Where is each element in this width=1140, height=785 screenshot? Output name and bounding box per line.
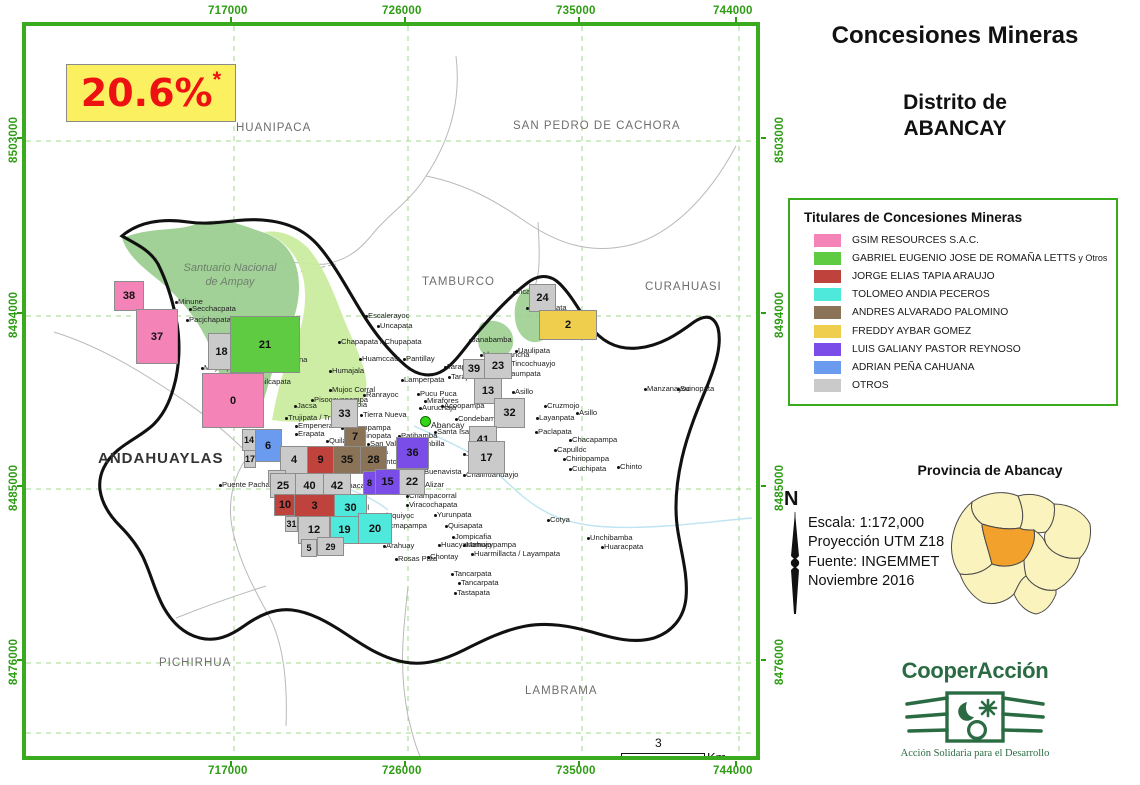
- graticule-tick: [404, 761, 406, 766]
- page-title: Concesiones Mineras: [790, 22, 1120, 50]
- settlement-label: Capulloc: [557, 445, 587, 454]
- legend-label: ANDRES ALVARADO PALOMINO: [852, 307, 1008, 318]
- graticule-tick: [761, 137, 766, 139]
- concession-block[interactable]: 22: [399, 469, 425, 495]
- legend-item[interactable]: JORGE ELIAS TAPIA ARAUJO: [800, 267, 1106, 285]
- legend-swatch: [814, 252, 841, 265]
- graticule-tick: [578, 17, 580, 22]
- graticule-tick: [735, 761, 737, 766]
- legend-swatch: [814, 379, 841, 392]
- graticule-tick: [578, 761, 580, 766]
- settlement-label: Uncapata: [380, 321, 413, 330]
- legend-item[interactable]: ANDRES ALVARADO PALOMINO: [800, 304, 1106, 322]
- graticule-tick: [17, 659, 22, 661]
- legend-swatch: [814, 343, 841, 356]
- info-line-0: Escala: 1:172,000: [808, 514, 944, 533]
- settlement-label: Chapapata / Chupapata: [341, 337, 422, 346]
- settlement-label: Ranrayoc: [366, 390, 399, 399]
- settlement-label: Alizar: [425, 480, 444, 489]
- legend-rows: GSIM RESOURCES S.A.C.GABRIEL EUGENIO JOS…: [800, 231, 1106, 395]
- settlement-label: Viracochapata: [409, 500, 457, 509]
- graticule-x-label: 744000: [713, 5, 753, 17]
- info-line-3: Noviembre 2016: [808, 572, 944, 591]
- settlement-label: Cuchipata: [572, 464, 606, 473]
- legend-swatch: [814, 234, 841, 247]
- concession-block[interactable]: 37: [136, 309, 178, 364]
- sanctuary-line2: de Ampay: [205, 276, 254, 288]
- graticule-x-label: 717000: [208, 5, 248, 17]
- concession-block[interactable]: 2: [539, 310, 597, 340]
- graticule-x-label: 744000: [713, 765, 753, 777]
- concession-block[interactable]: 6: [254, 429, 282, 462]
- concession-block[interactable]: 24: [529, 284, 556, 312]
- province-inset-map[interactable]: [920, 482, 1120, 622]
- settlement-label: Huarmillacta / Layampata: [474, 549, 560, 558]
- settlement-label: Unchibamba: [590, 533, 633, 542]
- graticule-tick: [230, 17, 232, 22]
- legend-label: OTROS: [852, 380, 889, 391]
- legend-swatch: [814, 288, 841, 301]
- page-subtitle: Distrito de ABANCAY: [790, 90, 1120, 143]
- info-line-2: Fuente: INGEMMET: [808, 553, 944, 572]
- concession-block[interactable]: 31: [285, 516, 298, 532]
- legend-label: JORGE ELIAS TAPIA ARAUJO: [852, 271, 995, 282]
- concession-block[interactable]: 35: [333, 446, 361, 474]
- settlement-label: Uaulipata: [518, 346, 550, 355]
- settlement-label: Huamccata: [362, 354, 400, 363]
- district-label: CURAHUASI: [645, 281, 722, 293]
- legend-swatch: [814, 325, 841, 338]
- settlement-label: Tincochuayjo: [511, 359, 555, 368]
- sanctuary-line1: Santuario Nacional: [184, 262, 277, 274]
- district-label: SAN PEDRO DE CACHORA: [513, 120, 681, 132]
- legend-title: Titulares de Concesiones Mineras: [804, 210, 1106, 225]
- info-line-1: Proyección UTM Z18: [808, 533, 944, 552]
- settlement-label: Asillo: [579, 408, 597, 417]
- sanctuary-label: Santuario Nacional de Ampay: [174, 262, 286, 290]
- graticule-x-label: 735000: [556, 765, 596, 777]
- district-label: ANDAHUAYLAS: [98, 450, 223, 467]
- settlement-label: Quisapata: [448, 521, 483, 530]
- settlement-label: Tierra Nueva: [363, 410, 407, 419]
- concession-block[interactable]: 9: [307, 446, 334, 474]
- graticule-y-label: 8485000: [8, 465, 20, 511]
- concession-block[interactable]: 5: [301, 539, 317, 557]
- graticule-y-label: 8503000: [774, 117, 786, 163]
- concession-block[interactable]: 10: [274, 494, 296, 516]
- graticule-y-label: 8494000: [774, 292, 786, 338]
- legend-label: TOLOMEO ANDIA PECEROS: [852, 289, 990, 300]
- legend-label: LUIS GALIANY PASTOR REYNOSO: [852, 344, 1021, 355]
- graticule-tick: [17, 312, 22, 314]
- settlement-label: Secchacpata: [192, 304, 236, 313]
- logo-wordmark: CooperAcción: [860, 658, 1090, 684]
- graticule-tick: [404, 17, 406, 22]
- concession-block[interactable]: 39: [463, 359, 485, 379]
- graticule-y-label: 8476000: [8, 639, 20, 685]
- legend-item[interactable]: TOLOMEO ANDIA PECEROS: [800, 286, 1106, 304]
- legend-item[interactable]: OTROS: [800, 377, 1106, 395]
- concession-block[interactable]: 3: [294, 494, 335, 518]
- concession-block[interactable]: 17: [468, 441, 505, 474]
- settlement-label: Huaracpata: [604, 542, 643, 551]
- graticule-tick: [761, 485, 766, 487]
- concession-block[interactable]: 14: [242, 429, 256, 451]
- settlement-label: Tancarpata: [454, 569, 492, 578]
- graticule-tick: [735, 17, 737, 22]
- settlement-label: Buenavista: [424, 467, 462, 476]
- concession-block[interactable]: 36: [396, 437, 429, 469]
- subtitle-line1: Distrito de: [903, 91, 1007, 114]
- concession-block[interactable]: 38: [114, 281, 144, 311]
- north-letter: N: [784, 488, 798, 511]
- scale-bar-unit: Km.: [707, 750, 730, 756]
- settlement-label: Tancarpata: [461, 578, 499, 587]
- settlement-label: Chontay: [430, 552, 458, 561]
- scale-info-block: Escala: 1:172,000 Proyección UTM Z18 Fue…: [808, 514, 944, 591]
- legend-label: FREDDY AYBAR GOMEZ: [852, 326, 971, 337]
- inset-title: Provincia de Abancay: [860, 462, 1120, 478]
- settlement-label: Cruzmojo: [547, 401, 580, 410]
- legend-label: GABRIEL EUGENIO JOSE DE ROMAÑA LETTS y O…: [852, 253, 1107, 264]
- abancay-city-marker[interactable]: [420, 416, 431, 427]
- settlement-label: Janabamba: [472, 335, 512, 344]
- settlement-label: Erapata: [298, 429, 325, 438]
- legend-swatch: [814, 306, 841, 319]
- abancay-city-label: Abancay: [431, 420, 464, 430]
- percentage-value: 20.6%: [81, 74, 213, 112]
- legend-item[interactable]: ADRIAN PEÑA CAHUANA: [800, 358, 1106, 376]
- settlement-label: Humajala: [332, 366, 364, 375]
- graticule-y-label: 8494000: [8, 292, 20, 338]
- concession-block[interactable]: 21: [230, 316, 300, 373]
- legend-panel: Titulares de Concesiones Mineras GSIM RE…: [788, 198, 1118, 406]
- settlement-label: Cotya: [550, 515, 570, 524]
- legend-item[interactable]: GABRIEL EUGENIO JOSE DE ROMAÑA LETTS y O…: [800, 249, 1106, 267]
- settlement-label: Yurunpata: [437, 510, 472, 519]
- graticule-y-label: 8503000: [8, 117, 20, 163]
- map-frame: Santuario Nacional de Ampay MinuneSeccha…: [22, 22, 760, 760]
- concession-block[interactable]: 17: [244, 450, 256, 468]
- district-label: LAMBRAMA: [525, 685, 598, 697]
- legend-item[interactable]: FREDDY AYBAR GOMEZ: [800, 322, 1106, 340]
- legend-swatch: [814, 270, 841, 283]
- legend-label: GSIM RESOURCES S.A.C.: [852, 235, 979, 246]
- graticule-tick: [761, 312, 766, 314]
- settlement-label: Escalerayoc: [368, 311, 409, 320]
- district-label: TAMBURCO: [422, 276, 495, 288]
- legend-item[interactable]: LUIS GALIANY PASTOR REYNOSO: [800, 340, 1106, 358]
- logo-tagline: Acción Solidaria para el Desarrollo: [860, 748, 1090, 759]
- concession-block[interactable]: 7: [344, 426, 366, 447]
- graticule-tick: [761, 659, 766, 661]
- legend-label-suffix: y Otros: [1076, 253, 1108, 263]
- graticule-x-label: 717000: [208, 765, 248, 777]
- concession-block[interactable]: 33: [331, 399, 358, 428]
- legend-label: ADRIAN PEÑA CAHUANA: [852, 362, 974, 373]
- settlement-label: Tastapata: [457, 588, 490, 597]
- graticule-x-label: 726000: [382, 5, 422, 17]
- graticule-x-label: 726000: [382, 765, 422, 777]
- settlement-label: Asillo: [515, 387, 533, 396]
- graticule-y-label: 8476000: [774, 639, 786, 685]
- settlement-label: Chinto: [620, 462, 642, 471]
- settlement-label: Chiriopampa: [566, 454, 609, 463]
- concession-block[interactable]: 0: [202, 373, 264, 428]
- concession-block[interactable]: 15: [375, 469, 400, 495]
- settlement-label: Mahuaypampa: [466, 540, 516, 549]
- percentage-badge: 20.6% *: [66, 64, 236, 122]
- graticule-tick: [17, 485, 22, 487]
- scale-bar: 3 Km.: [621, 753, 705, 756]
- concession-block[interactable]: 32: [494, 398, 525, 428]
- graticule-tick: [17, 137, 22, 139]
- concession-block[interactable]: 29: [317, 537, 344, 556]
- settlement-label: Paclapata: [538, 427, 572, 436]
- graticule-tick: [230, 761, 232, 766]
- scale-bar-value: 3: [655, 736, 662, 750]
- settlement-label: Lamperpata: [404, 375, 445, 384]
- settlement-label: Pantillay: [406, 354, 435, 363]
- scale-bar-rect: [621, 753, 705, 756]
- graticule-x-label: 735000: [556, 5, 596, 17]
- cooperaccion-logo-icon: [905, 688, 1045, 746]
- settlement-label: Pacjchapata: [189, 315, 231, 324]
- settlement-label: Suinopata: [680, 384, 714, 393]
- concession-block[interactable]: 20: [358, 513, 392, 544]
- district-label: PICHIRHUA: [159, 657, 231, 669]
- legend-swatch: [814, 361, 841, 374]
- subtitle-line2: ABANCAY: [903, 117, 1006, 140]
- district-label: HUANIPACA: [236, 122, 311, 134]
- map-canvas[interactable]: Santuario Nacional de Ampay MinuneSeccha…: [26, 26, 756, 756]
- settlement-label: Layanpata: [539, 413, 574, 422]
- legend-item[interactable]: GSIM RESOURCES S.A.C.: [800, 231, 1106, 249]
- settlement-label: Chacapampa: [572, 435, 617, 444]
- concession-block[interactable]: 23: [484, 353, 512, 379]
- percentage-asterisk: *: [213, 69, 222, 91]
